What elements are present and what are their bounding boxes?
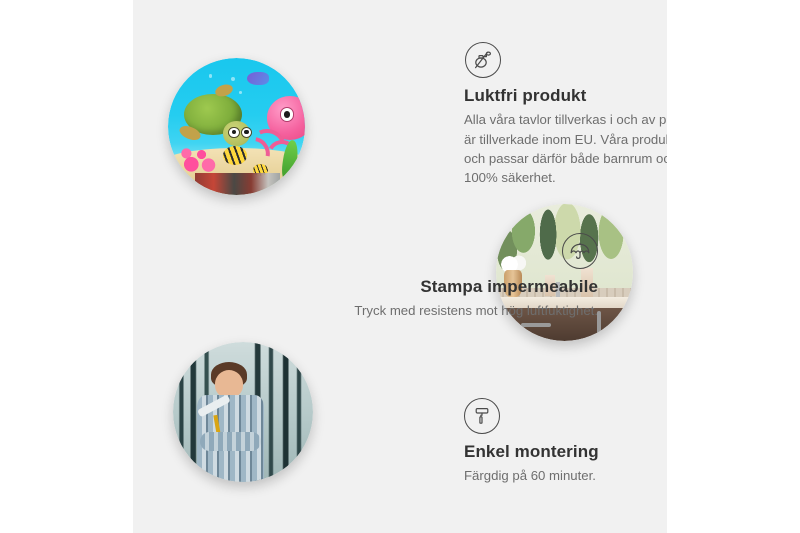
underwater-cartoon-disc bbox=[168, 58, 305, 195]
feature-mounting: Enkel montering Färgdig på 60 minuter. bbox=[464, 398, 667, 486]
yellow-fish-icon bbox=[223, 146, 248, 165]
icon-row bbox=[464, 42, 667, 78]
woman-face bbox=[215, 370, 243, 398]
icon-row bbox=[308, 233, 598, 269]
icon-row bbox=[464, 398, 667, 434]
blue-fish-icon bbox=[247, 72, 269, 86]
umbrella-icon bbox=[562, 233, 598, 269]
woman-crossed-arms bbox=[200, 432, 262, 452]
bubble-icon bbox=[239, 91, 242, 94]
feature-title: Stampa impermeabile bbox=[308, 277, 598, 297]
feature-title: Luktfri produkt bbox=[464, 86, 667, 106]
octopus-eye bbox=[280, 107, 294, 121]
feature-description: Alla våra tavlor tillverkas i och av pro… bbox=[464, 110, 667, 187]
paint-roller-icon bbox=[464, 398, 500, 434]
page-root: Luktfri produkt Alla våra tavlor tillver… bbox=[0, 0, 800, 533]
underwater-image bbox=[168, 58, 305, 195]
painter-image bbox=[173, 342, 313, 482]
pink-coral bbox=[179, 137, 220, 175]
no-odour-perfume-icon bbox=[465, 42, 501, 78]
cabinet-handle bbox=[521, 323, 551, 327]
feature-description: Färgdig på 60 minuter. bbox=[464, 466, 667, 485]
feature-odourless: Luktfri produkt Alla våra tavlor tillver… bbox=[464, 42, 667, 187]
turtle-eye bbox=[228, 127, 240, 139]
painter-forest-wallpaper-disc bbox=[173, 342, 313, 482]
feature-title: Enkel montering bbox=[464, 442, 667, 462]
photo-bottom-strip bbox=[195, 173, 280, 195]
feature-waterproof: Stampa impermeabile Tryck med resistens … bbox=[308, 233, 598, 321]
content-panel: Luktfri produkt Alla våra tavlor tillver… bbox=[133, 0, 667, 533]
feature-description: Tryck med resistens mot hög luftfuktighe… bbox=[308, 301, 598, 320]
